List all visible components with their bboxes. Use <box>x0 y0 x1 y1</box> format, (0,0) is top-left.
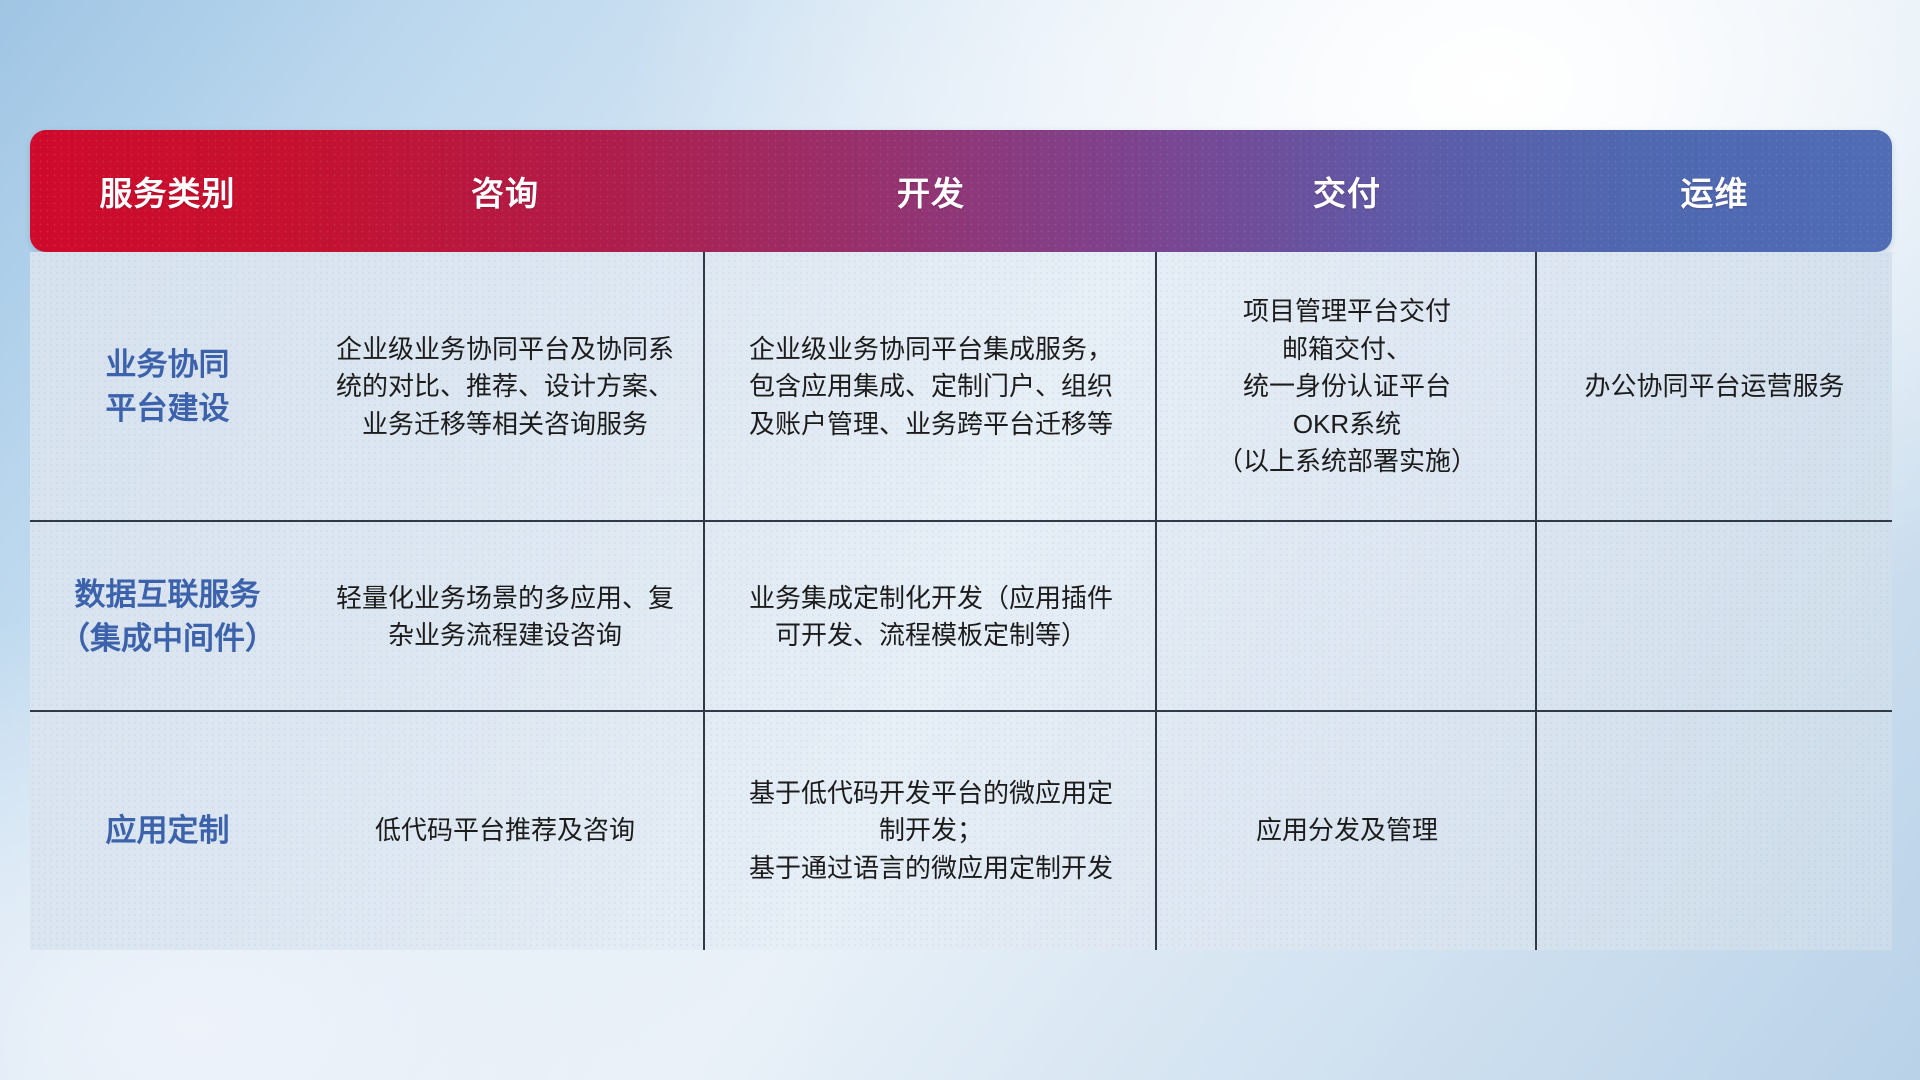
row-development-text: 业务集成定制化开发（应用插件 可开发、流程模板定制等） <box>749 580 1113 655</box>
slide-canvas: 服务类别 咨询 开发 交付 运维 业务协同 平台建设 企业级业务协同平台及协同系… <box>0 0 1920 1080</box>
row-category-label: 应用定制 <box>106 809 230 853</box>
service-matrix-table: 服务类别 咨询 开发 交付 运维 业务协同 平台建设 企业级业务协同平台及协同系… <box>30 130 1892 950</box>
row-category-label: 数据互联服务 （集成中间件） <box>59 573 276 661</box>
row-development-cell: 基于低代码开发平台的微应用定 制开发； 基于通过语言的微应用定制开发 <box>705 712 1157 950</box>
row-consulting-text: 企业级业务协同平台及协同系 统的对比、推荐、设计方案、 业务迁移等相关咨询服务 <box>336 331 674 443</box>
column-header-category: 服务类别 <box>30 167 305 215</box>
row-delivery-cell: 应用分发及管理 <box>1157 712 1537 950</box>
row-category-cell: 数据互联服务 （集成中间件） <box>30 522 305 712</box>
row-operations-cell: 办公协同平台运营服务 <box>1537 252 1892 522</box>
table-header-row: 服务类别 咨询 开发 交付 运维 <box>30 130 1892 252</box>
row-delivery-cell <box>1157 522 1537 712</box>
table-body-rows: 业务协同 平台建设 企业级业务协同平台及协同系 统的对比、推荐、设计方案、 业务… <box>30 252 1892 950</box>
row-consulting-cell: 轻量化业务场景的多应用、复 杂业务流程建设咨询 <box>305 522 705 712</box>
row-category-cell: 应用定制 <box>30 712 305 950</box>
row-operations-cell <box>1537 712 1892 950</box>
row-delivery-cell: 项目管理平台交付 邮箱交付、 统一身份认证平台 OKR系统 （以上系统部署实施） <box>1157 252 1537 522</box>
row-consulting-text: 轻量化业务场景的多应用、复 杂业务流程建设咨询 <box>336 580 674 655</box>
column-header-consulting: 咨询 <box>305 167 705 215</box>
row-category-cell: 业务协同 平台建设 <box>30 252 305 522</box>
row-consulting-text: 低代码平台推荐及咨询 <box>375 812 635 849</box>
row-operations-cell <box>1537 522 1892 712</box>
row-consulting-cell: 企业级业务协同平台及协同系 统的对比、推荐、设计方案、 业务迁移等相关咨询服务 <box>305 252 705 522</box>
row-consulting-cell: 低代码平台推荐及咨询 <box>305 712 705 950</box>
table-row: 数据互联服务 （集成中间件） 轻量化业务场景的多应用、复 杂业务流程建设咨询 业… <box>30 522 1892 712</box>
column-header-development: 开发 <box>705 167 1157 215</box>
row-operations-text: 办公协同平台运营服务 <box>1584 368 1844 405</box>
row-category-label: 业务协同 平台建设 <box>106 343 230 431</box>
table-row: 业务协同 平台建设 企业级业务协同平台及协同系 统的对比、推荐、设计方案、 业务… <box>30 252 1892 522</box>
row-development-text: 基于低代码开发平台的微应用定 制开发； 基于通过语言的微应用定制开发 <box>749 775 1113 887</box>
table-row: 应用定制 低代码平台推荐及咨询 基于低代码开发平台的微应用定 制开发； 基于通过… <box>30 712 1892 950</box>
row-delivery-text: 应用分发及管理 <box>1256 812 1438 849</box>
row-delivery-text: 项目管理平台交付 邮箱交付、 统一身份认证平台 OKR系统 （以上系统部署实施） <box>1217 293 1477 480</box>
column-header-delivery: 交付 <box>1157 167 1537 215</box>
row-development-cell: 企业级业务协同平台集成服务， 包含应用集成、定制门户、组织 及账户管理、业务跨平… <box>705 252 1157 522</box>
column-header-operations: 运维 <box>1537 167 1892 215</box>
row-development-cell: 业务集成定制化开发（应用插件 可开发、流程模板定制等） <box>705 522 1157 712</box>
row-development-text: 企业级业务协同平台集成服务， 包含应用集成、定制门户、组织 及账户管理、业务跨平… <box>749 331 1113 443</box>
